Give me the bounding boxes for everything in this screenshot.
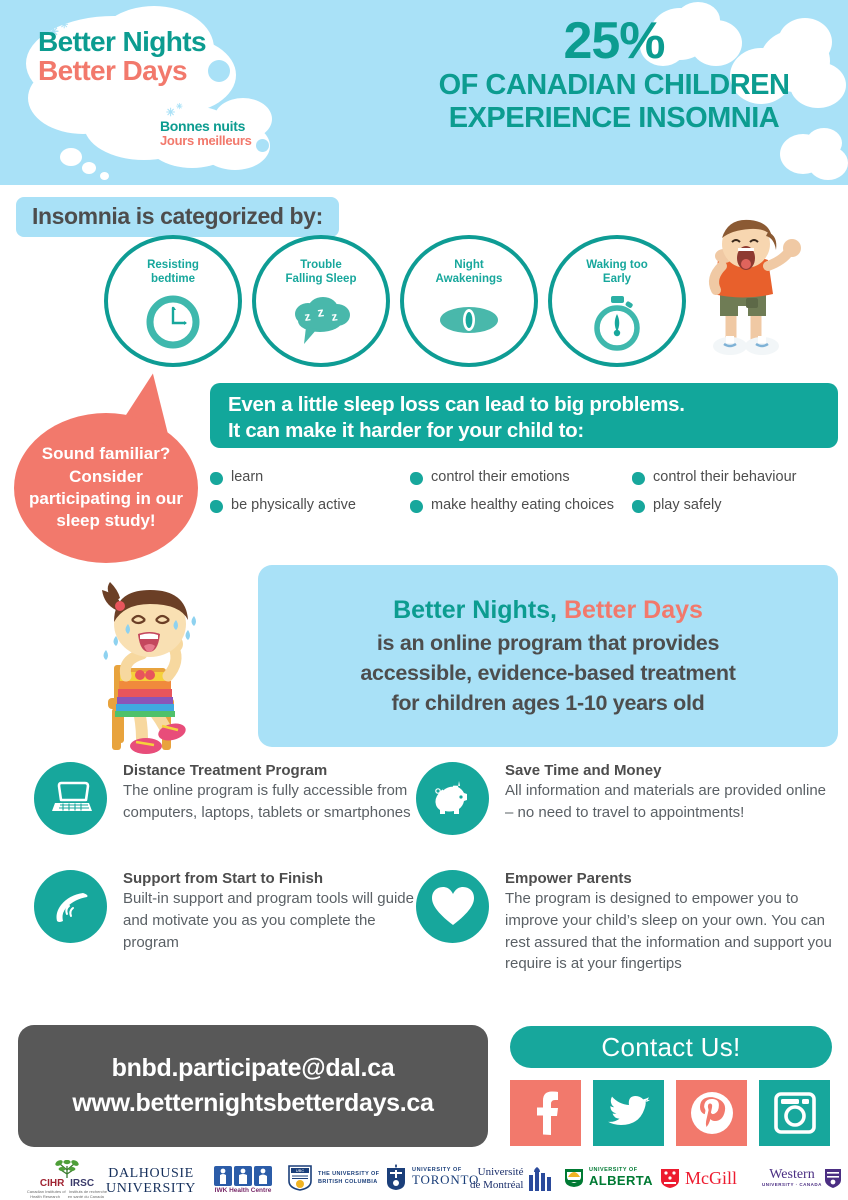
feature-support-start-to-finish: Support from Start to Finish Built-in su… [34,870,414,953]
helping-hand-icon [34,870,107,943]
bullet-cloud-icon [210,500,223,513]
clock-icon [145,294,201,355]
crying-girl-illustration [58,580,238,760]
category-label-line1: Night [454,259,483,271]
category-waking-too-early: Waking too Early [548,235,686,367]
category-label-line1: Trouble [300,259,342,271]
brand-logo: ✳ ✳ ✳ ✳ Better Nights Better Days Bonnes… [4,2,304,182]
feature-body: The online program is fully accessible f… [123,780,414,824]
heart-icon [416,870,489,943]
program-body-line-3: for children ages 1-10 years old [391,689,704,719]
category-label-line1: Resisting [147,259,199,271]
alarm-stopwatch-icon [590,294,644,357]
header-title-line-2: EXPERIENCE INSOMNIA [404,102,824,135]
categories-list: Resisting bedtime Trouble Falling Sleep [104,235,684,373]
feature-heading: Save Time and Money [505,762,836,779]
category-label-line2: Awakenings [436,273,503,285]
social-links [510,1080,832,1146]
contact-us-button[interactable]: Contact Us! [510,1026,832,1068]
feature-distance-treatment-program: Distance Treatment Program The online pr… [34,762,414,835]
bullet-cloud-icon [410,500,423,513]
program-body-line-1: is an online program that provides [377,629,719,659]
contact-email[interactable]: bnbd.participate@dal.ca [112,1051,395,1086]
list-item: control their emotions [410,468,632,488]
facebook-icon[interactable] [510,1080,581,1146]
piggy-bank-icon [416,762,489,835]
instagram-icon[interactable] [759,1080,830,1146]
program-brand: Better Nights, Better Days [393,594,703,627]
alberta-shield-icon [564,1168,584,1188]
bullet-cloud-icon [632,472,645,485]
cihr-irsc-logo: CIHR IRSC Canadian Institutes of Institu… [24,1160,110,1199]
logo-fr-line-2: Jours meilleurs [160,134,252,148]
program-description-box: Better Nights, Better Days is an online … [258,565,838,747]
sparkle-icon: ✳ [176,102,183,111]
statistic-value: 25% [404,14,824,69]
dalhousie-university-logo: DALHOUSIE UNIVERSITY [106,1166,196,1197]
bullet-cloud-icon [210,472,223,485]
pinterest-icon[interactable] [676,1080,747,1146]
category-trouble-falling-sleep: Trouble Falling Sleep z z z [252,235,390,367]
feature-heading: Distance Treatment Program [123,762,414,779]
category-label-line2: Falling Sleep [286,273,357,285]
feature-body: Built-in support and program tools will … [123,888,414,953]
feature-body: All information and materials are provid… [505,780,836,824]
banner-line-2: It can make it harder for your child to: [228,418,820,444]
svg-text:UBC: UBC [296,1168,305,1173]
list-item: be physically active [210,496,410,516]
feature-heading: Support from Start to Finish [123,870,414,887]
twitter-icon[interactable] [593,1080,664,1146]
western-shield-icon [824,1168,842,1188]
brand-part-1: Better Nights, [393,596,557,624]
category-night-awakenings: Night Awakenings [400,235,538,367]
sun-icon [256,139,269,152]
feature-body: The program is designed to empower you t… [505,888,836,975]
list-item: play safely [632,496,840,516]
header-banner: ✳ ✳ ✳ ✳ Better Nights Better Days Bonnes… [0,0,848,185]
logo-line-2: Better Days [38,56,206,85]
ubc-logo: UBC THE UNIVERSITY OF BRITISH COLUMBIA [288,1165,379,1191]
feature-heading: Empower Parents [505,870,836,887]
category-label-line2: Early [603,273,631,285]
header-title-line-1: OF CANADIAN CHILDREN [404,69,824,102]
university-of-toronto-logo: UNIVERSITY OF TORONTO [386,1164,479,1191]
category-label-line1: Waking too [586,259,648,271]
feature-save-time-and-money: Save Time and Money All information and … [416,762,836,835]
university-of-alberta-logo: UNIVERSITY OF ALBERTA [564,1168,653,1188]
features-section: Distance Treatment Program The online pr… [0,762,848,1012]
sleep-loss-banner: Even a little sleep loss can lead to big… [210,383,838,448]
banner-line-1: Even a little sleep loss can lead to big… [228,392,820,418]
feature-empower-parents: Empower Parents The program is designed … [416,870,836,975]
partner-logos-footer: CIHR IRSC Canadian Institutes of Institu… [0,1156,848,1200]
iwk-health-centre-logo: IWK Health Centre [214,1166,272,1194]
open-eye-icon [437,294,501,345]
universite-de-montreal-logo: Université de Montréal [470,1166,553,1192]
list-item: learn [210,468,410,488]
program-body-line-2: accessible, evidence-based treatment [360,659,735,689]
sleep-cloud-zzz-icon: z z z [290,294,352,355]
mcgill-crest-icon [660,1168,680,1188]
speech-bubble: Sound familiar? Consider participating i… [14,413,198,563]
header-title: 25% OF CANADIAN CHILDREN EXPERIENCE INSO… [404,14,824,135]
bullet-cloud-icon [632,500,645,513]
list-item: make healthy eating choices [410,496,632,516]
categories-heading: Insomnia is categorized by: [16,197,339,237]
logo-line-1: Better Nights [38,28,206,56]
category-resisting-bedtime: Resisting bedtime [104,235,242,367]
yawning-boy-illustration [676,218,826,368]
logo-fr-line-1: Bonnes nuits [160,119,252,134]
udem-mark-icon [527,1167,553,1191]
mcgill-logo: McGill [660,1168,737,1188]
list-item: control their behaviour [632,468,840,488]
brand-part-2: Better Days [564,596,703,624]
western-university-logo: Western UNIVERSITY · CANADA [762,1168,842,1188]
category-label-line2: bedtime [151,273,195,285]
infographic-page: ✳ ✳ ✳ ✳ Better Nights Better Days Bonnes… [0,0,848,1200]
bullet-cloud-icon [410,472,423,485]
laptop-icon [34,762,107,835]
problem-bullets: learn be physically active control their… [210,468,840,523]
contact-website[interactable]: www.betternightsbetterdays.ca [72,1086,433,1121]
toronto-crest-icon [386,1164,406,1191]
contact-details-box: bnbd.participate@dal.ca www.betternights… [18,1025,488,1147]
sun-icon [208,60,230,82]
ubc-crest-icon: UBC [288,1165,312,1191]
